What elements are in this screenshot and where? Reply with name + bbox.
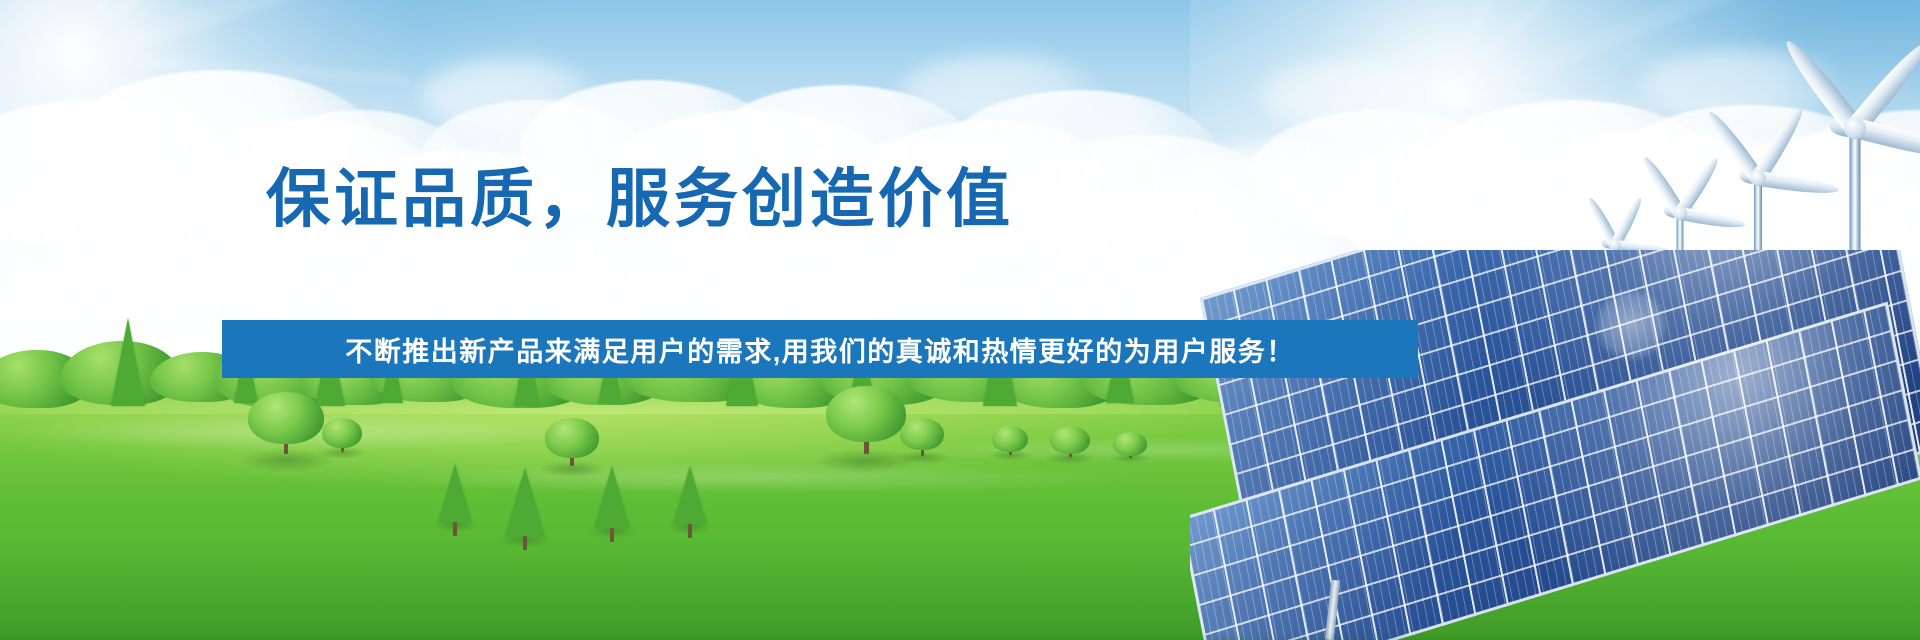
foreground-tree-1-canopy — [248, 392, 324, 444]
sapling-conifer-1 — [438, 464, 472, 522]
foreground-tree-7-canopy — [1050, 426, 1090, 454]
sapling-trunk-2 — [523, 536, 527, 550]
bottom-fade — [0, 632, 1920, 640]
sapling-conifer-2 — [505, 468, 545, 536]
solar-panel-array — [1190, 250, 1920, 640]
banner-headline: 保证品质，服务创造价值 — [0, 163, 1280, 235]
foreground-tree-6-canopy — [992, 426, 1028, 452]
tree-line-conifer-0 — [111, 318, 145, 406]
turbine-hub — [1750, 170, 1766, 186]
promo-banner: 保证品质，服务创造价值 不断推出新产品来满足用户的需求,用我们的真诚和热情更好的… — [0, 0, 1920, 640]
banner-subtitle-bar: 不断推出新产品来满足用户的需求,用我们的真诚和热情更好的为用户服务！ — [222, 320, 1418, 378]
sapling-trunk-1 — [453, 522, 457, 536]
lens-flare-icon — [1594, 288, 1668, 362]
banner-subtitle-text: 不断推出新产品来满足用户的需求,用我们的真诚和热情更好的为用户服务！ — [345, 330, 1295, 369]
foreground-tree-2-canopy — [322, 418, 362, 448]
turbine-hub — [1844, 117, 1866, 139]
sapling-trunk-4 — [688, 524, 692, 538]
foreground-tree-4-canopy — [826, 386, 906, 442]
sapling-trunk-3 — [610, 528, 614, 542]
foreground-tree-3-canopy — [545, 418, 599, 458]
sapling-conifer-3 — [594, 466, 630, 528]
foreground-tree-8-canopy — [1113, 432, 1147, 456]
foreground-tree-5-canopy — [900, 418, 944, 450]
sapling-conifer-4 — [673, 466, 707, 524]
